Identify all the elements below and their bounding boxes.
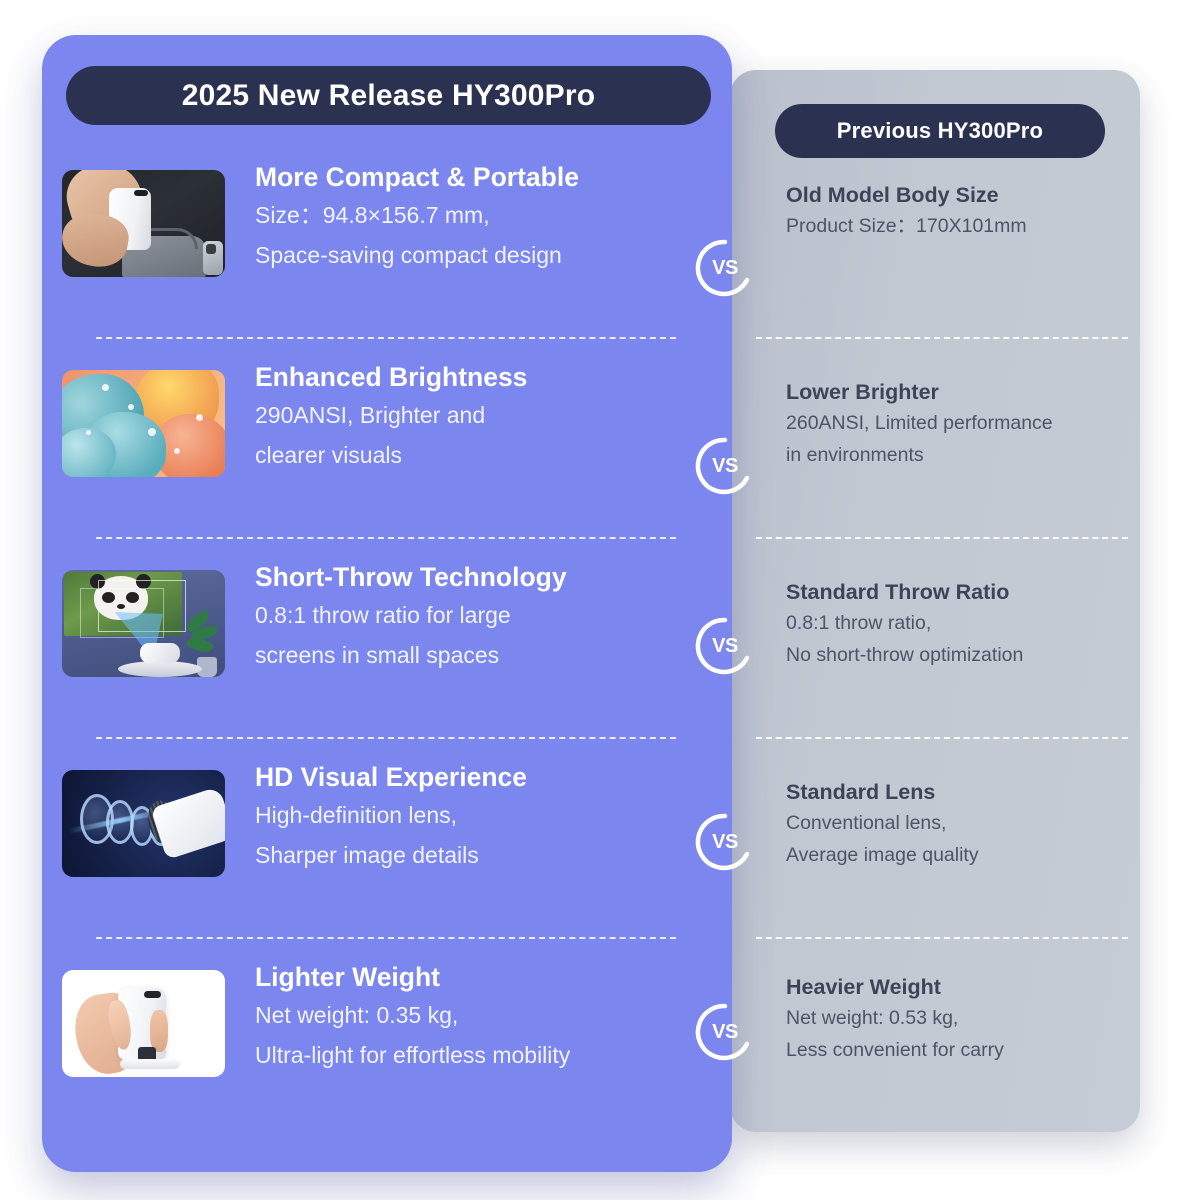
previous-feature-row-1: Old Model Body Size Product Size：170X101… — [786, 183, 1136, 241]
new-feature-line-3b: screens in small spaces — [255, 638, 567, 673]
new-model-header-pill: 2025 New Release HY300Pro — [66, 66, 711, 125]
previous-feature-line-5a: Net weight: 0.53 kg, — [786, 1004, 1136, 1034]
previous-feature-line-2a: 260ANSI, Limited performance — [786, 409, 1136, 439]
previous-feature-title-4: Standard Lens — [786, 780, 1136, 806]
new-feature-line-3a: 0.8:1 throw ratio for large — [255, 598, 567, 633]
new-feature-line-5b: Ultra-light for effortless mobility — [255, 1038, 570, 1073]
vs-label-1: VS — [712, 257, 738, 280]
previous-feature-line-4b: Average image quality — [786, 841, 1136, 871]
previous-feature-row-5: Heavier Weight Net weight: 0.53 kg, Less… — [786, 975, 1136, 1066]
projector-in-backpack-thumbnail — [62, 170, 225, 277]
colorful-flowers-thumbnail — [62, 370, 225, 477]
new-feature-text-1: More Compact & Portable Size：94.8×156.7 … — [255, 162, 579, 273]
previous-row-divider-1 — [756, 337, 1128, 339]
vs-badge-4: VS — [695, 812, 755, 872]
vs-badge-1: VS — [695, 238, 755, 298]
previous-feature-line-3a: 0.8:1 throw ratio, — [786, 609, 1136, 639]
new-feature-title-1: More Compact & Portable — [255, 162, 579, 193]
new-feature-row-4: HD Visual Experience High-definition len… — [62, 762, 702, 877]
new-feature-title-3: Short-Throw Technology — [255, 562, 567, 593]
new-feature-row-1: More Compact & Portable Size：94.8×156.7 … — [62, 162, 702, 277]
new-model-header-label: 2025 New Release HY300Pro — [182, 79, 596, 113]
previous-row-divider-3 — [756, 737, 1128, 739]
new-feature-line-1b: Space-saving compact design — [255, 238, 579, 273]
vs-label-2: VS — [712, 455, 738, 478]
previous-feature-row-2: Lower Brighter 260ANSI, Limited performa… — [786, 380, 1136, 471]
previous-feature-line-2b: in environments — [786, 441, 1136, 471]
previous-feature-row-3: Standard Throw Ratio 0.8:1 throw ratio, … — [786, 580, 1136, 671]
new-feature-text-5: Lighter Weight Net weight: 0.35 kg, Ultr… — [255, 962, 570, 1073]
vs-label-3: VS — [712, 635, 738, 658]
new-feature-text-3: Short-Throw Technology 0.8:1 throw ratio… — [255, 562, 567, 673]
previous-feature-line-5b: Less convenient for carry — [786, 1036, 1136, 1066]
previous-model-header-pill: Previous HY300Pro — [775, 104, 1105, 158]
new-feature-line-2b: clearer visuals — [255, 438, 527, 473]
vs-label-5: VS — [712, 1021, 738, 1044]
new-feature-line-4b: Sharper image details — [255, 838, 527, 873]
new-feature-line-4a: High-definition lens, — [255, 798, 527, 833]
previous-row-divider-2 — [756, 537, 1128, 539]
comparison-infographic: 2025 New Release HY300Pro Previous HY300… — [0, 0, 1200, 1200]
new-row-divider-4 — [96, 937, 676, 939]
projection-scene-thumbnail — [62, 570, 225, 677]
vs-label-4: VS — [712, 831, 738, 854]
previous-feature-title-1: Old Model Body Size — [786, 183, 1136, 209]
new-feature-row-5: Lighter Weight Net weight: 0.35 kg, Ultr… — [62, 962, 702, 1077]
previous-feature-title-2: Lower Brighter — [786, 380, 1136, 406]
new-feature-title-2: Enhanced Brightness — [255, 362, 527, 393]
previous-feature-title-3: Standard Throw Ratio — [786, 580, 1136, 606]
vs-badge-5: VS — [695, 1002, 755, 1062]
new-feature-line-2a: 290ANSI, Brighter and — [255, 398, 527, 433]
new-feature-row-2: Enhanced Brightness 290ANSI, Brighter an… — [62, 362, 702, 477]
hand-holding-projector-thumbnail — [62, 970, 225, 1077]
previous-feature-line-3b: No short-throw optimization — [786, 641, 1136, 671]
lens-exploded-thumbnail — [62, 770, 225, 877]
previous-feature-title-5: Heavier Weight — [786, 975, 1136, 1001]
vs-badge-2: VS — [695, 436, 755, 496]
previous-model-header-label: Previous HY300Pro — [837, 118, 1043, 144]
new-feature-title-5: Lighter Weight — [255, 962, 570, 993]
new-row-divider-3 — [96, 737, 676, 739]
new-feature-line-1a: Size：94.8×156.7 mm, — [255, 198, 579, 233]
new-feature-text-2: Enhanced Brightness 290ANSI, Brighter an… — [255, 362, 527, 473]
new-row-divider-2 — [96, 537, 676, 539]
previous-feature-line-1a: Product Size：170X101mm — [786, 212, 1136, 242]
previous-feature-row-4: Standard Lens Conventional lens, Average… — [786, 780, 1136, 871]
new-feature-line-5a: Net weight: 0.35 kg, — [255, 998, 570, 1033]
new-row-divider-1 — [96, 337, 676, 339]
previous-feature-line-4a: Conventional lens, — [786, 809, 1136, 839]
new-feature-text-4: HD Visual Experience High-definition len… — [255, 762, 527, 873]
new-feature-row-3: Short-Throw Technology 0.8:1 throw ratio… — [62, 562, 702, 677]
previous-row-divider-4 — [756, 937, 1128, 939]
vs-badge-3: VS — [695, 616, 755, 676]
new-feature-title-4: HD Visual Experience — [255, 762, 527, 793]
